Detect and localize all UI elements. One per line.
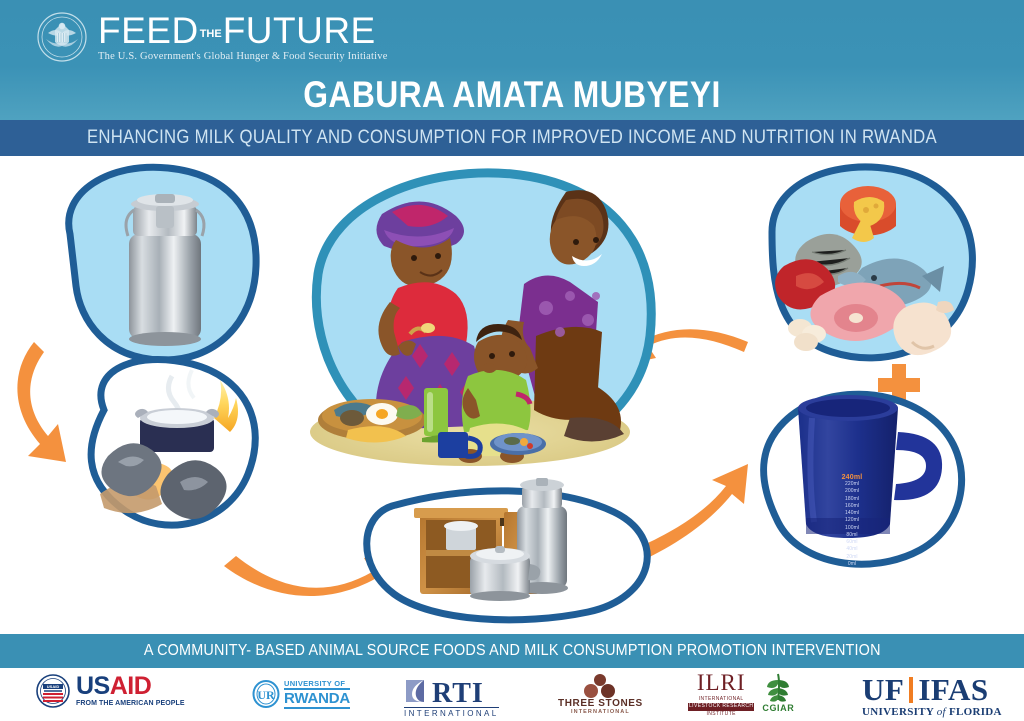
page-title: GABURA AMATA MUBYEYI — [72, 74, 953, 116]
mug-scale-mark: 140ml — [812, 510, 892, 517]
cgiar-wordmark: CGIAR — [762, 703, 794, 713]
logo-uf-ifas[interactable]: UF IFAS UNIVERSITY of FLORIDA — [862, 674, 1002, 718]
node-storage[interactable] — [367, 478, 647, 620]
node-milk-can[interactable] — [69, 167, 256, 360]
rti-swoosh-icon — [404, 676, 429, 706]
mug-scale-mark: 40ml — [812, 546, 892, 553]
uf-text: UF — [862, 674, 904, 705]
svg-text:UR: UR — [257, 688, 275, 702]
rwanda-small-text: UNIVERSITY OF — [284, 680, 350, 688]
us-great-seal-icon — [36, 11, 88, 63]
logo-ilri[interactable]: ILRI INTERNATIONAL LIVESTOCK RESEARCH IN… — [688, 672, 754, 718]
node-animal-source-foods[interactable] — [772, 167, 972, 358]
mug-scale-mark: 220ml — [812, 481, 892, 488]
three-stones-icon — [577, 674, 623, 698]
usaid-seal-icon: USAID — [36, 674, 70, 708]
uf-subtext: UNIVERSITY of FLORIDA — [862, 706, 1002, 718]
usaid-wordmark: USAID — [76, 675, 185, 699]
rti-wordmark: RTI — [432, 681, 484, 706]
diagram-stage: 240ml 220ml200ml180ml160ml140ml120ml100m… — [0, 156, 1024, 634]
mug-scale-mark: 0ml — [812, 561, 892, 568]
mug-scale-mark: 160ml — [812, 503, 892, 510]
brand-word-feed: FEED — [98, 12, 199, 49]
mug-scale-mark: 100ml — [812, 525, 892, 532]
mug-scale-mark: 180ml — [812, 496, 892, 503]
mug-scale-mark: 80ml — [812, 532, 892, 539]
brand-word-the: THE — [200, 29, 222, 41]
logo-university-of-rwanda[interactable]: UR UNIVERSITY OF RWANDA — [252, 680, 350, 709]
three-stones-wordmark: THREE STONES — [558, 698, 643, 709]
ilri-subtext: INTERNATIONAL LIVESTOCK RESEARCH INSTITU… — [688, 696, 754, 719]
ur-monogram-icon: UR — [252, 680, 280, 708]
partner-logo-strip: USAID USAID FROM THE AMERICAN PEOPLE UR — [0, 668, 1024, 721]
logo-cgiar[interactable]: CGIAR — [762, 672, 794, 713]
rti-subtext: INTERNATIONAL — [404, 707, 499, 718]
node-family-eating[interactable] — [310, 173, 651, 466]
feed-the-future-wordmark: FEED THE FUTURE The U.S. Government's Gl… — [98, 12, 388, 62]
mug-scale: 240ml 220ml200ml180ml160ml140ml120ml100m… — [812, 474, 892, 568]
node-boiling-milk[interactable] — [91, 360, 255, 526]
logo-ilri-cgiar[interactable]: ILRI INTERNATIONAL LIVESTOCK RESEARCH IN… — [688, 672, 794, 718]
mug-scale-mark: 20ml — [812, 554, 892, 561]
svg-text:USAID: USAID — [47, 684, 60, 689]
logo-three-stones-international[interactable]: THREE STONES INTERNATIONAL — [558, 674, 643, 715]
logo-usaid[interactable]: USAID USAID FROM THE AMERICAN PEOPLE — [36, 674, 185, 708]
rwanda-big-text: RWANDA — [284, 688, 350, 709]
header-band: FEED THE FUTURE The U.S. Government's Gl… — [0, 0, 1024, 120]
arrow-can-to-boiling — [17, 342, 66, 462]
page-subtitle: ENHANCING MILK QUALITY AND CONSUMPTION F… — [87, 127, 937, 149]
mug-scale-mark: 200ml — [812, 488, 892, 495]
milk-can-art — [126, 194, 204, 346]
three-stones-subtext: INTERNATIONAL — [571, 709, 630, 715]
logo-rti-international[interactable]: RTI INTERNATIONAL — [404, 676, 499, 718]
subtitle-band: ENHANCING MILK QUALITY AND CONSUMPTION F… — [0, 120, 1024, 156]
ilri-wordmark: ILRI — [688, 672, 754, 694]
usaid-tagline: FROM THE AMERICAN PEOPLE — [76, 700, 185, 707]
uf-ifas-wordmark: UF IFAS — [862, 674, 989, 705]
mug-scale-top-label: 240ml — [812, 474, 892, 481]
mug-scale-mark: 120ml — [812, 517, 892, 524]
poster: FEED THE FUTURE The U.S. Government's Gl… — [0, 0, 1024, 721]
cgiar-plant-icon — [765, 672, 791, 702]
uf-divider-bar — [909, 677, 913, 703]
mug-scale-marks: 220ml200ml180ml160ml140ml120ml100ml80ml6… — [812, 481, 892, 568]
brand-tagline: The U.S. Government's Global Hunger & Fo… — [98, 51, 388, 62]
footer-tagline: A COMMUNITY- BASED ANIMAL SOURCE FOODS A… — [144, 642, 881, 660]
mug-scale-mark: 60ml — [812, 539, 892, 546]
brand-word-future: FUTURE — [223, 12, 376, 49]
footer-band: A COMMUNITY- BASED ANIMAL SOURCE FOODS A… — [0, 634, 1024, 668]
ifas-text: IFAS — [918, 674, 988, 705]
feed-the-future-logo: FEED THE FUTURE The U.S. Government's Gl… — [36, 8, 396, 66]
